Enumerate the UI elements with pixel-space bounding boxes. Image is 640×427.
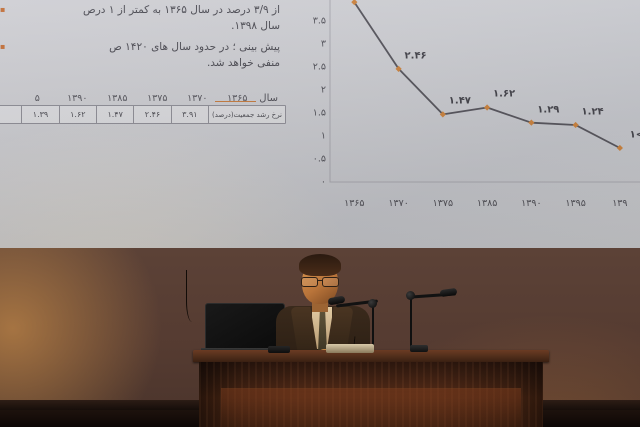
slide-bullet-line: از ۳/۹ درصد در سال ۱۳۶۵ به کمتر از ۱ درص bbox=[9, 2, 280, 18]
podium-front bbox=[199, 362, 543, 427]
chart-x-tick-label: ۱۳۶۵ bbox=[344, 198, 364, 209]
table-header-row: سال۱۳۶۵۱۳۷۰۱۳۷۵۱۳۸۵۱۳۹۰۵ bbox=[0, 88, 286, 104]
slide-bullet: ▪ پیش بینی ؛ در حدود سال های ۱۴۲۰ ص منفی… bbox=[0, 39, 280, 72]
table-cell: ۳.۹۱ bbox=[171, 106, 208, 123]
slide-bullet-line: سال ۱۳۹۸. bbox=[9, 18, 280, 34]
chart-point-label: ۱.۶۲ bbox=[493, 89, 515, 100]
chart-point-label: ۱.۴۷ bbox=[449, 96, 471, 107]
population-growth-chart: ۰۰.۵۱۱.۵۲۲.۵۳۳.۵۱۳۶۵۱۳۷۰۱۳۷۵۱۳۸۵۱۳۹۰۱۳۹۵… bbox=[292, 0, 640, 234]
chart-y-tick-label: ۳ bbox=[296, 39, 326, 50]
chart-series-line bbox=[354, 2, 620, 148]
chart-x-tick-label: ۱۳۹۵ bbox=[565, 198, 585, 209]
table-year-header: ۱۳۶۵ bbox=[217, 93, 257, 104]
chart-x-tick-label: ۱۳۷۰ bbox=[388, 198, 408, 209]
chart-point-label: ۲.۴۶ bbox=[405, 50, 427, 61]
presenter-hair bbox=[299, 254, 341, 276]
chart-point-label: ۱.۲۹ bbox=[537, 104, 559, 115]
table-year-header: ۱۳۷۵ bbox=[137, 93, 177, 104]
chart-axes bbox=[330, 0, 640, 182]
auditorium-room bbox=[0, 248, 640, 427]
chart-y-tick-label: ۲.۵ bbox=[296, 62, 326, 73]
chart-point-label: ۱< bbox=[630, 129, 640, 140]
bullet-marker-icon: ▪ bbox=[0, 2, 6, 17]
chart-x-tick-label: ۱۳۸۵ bbox=[477, 198, 497, 209]
population-growth-table: سال۱۳۶۵۱۳۷۰۱۳۷۵۱۳۸۵۱۳۹۰۵ نرخ رشد جمعیت(د… bbox=[0, 88, 286, 124]
chart-data-point bbox=[484, 104, 490, 110]
table-year-header: ۱۳۷۰ bbox=[177, 93, 217, 104]
chart-point-label: ۱.۲۴ bbox=[582, 106, 604, 117]
table-row-label: نرخ رشد جمعیت(درصد) bbox=[208, 106, 285, 123]
bullet-marker-icon: ▪ bbox=[0, 39, 6, 54]
cable bbox=[186, 270, 201, 322]
chart-y-tick-label: ۰.۵ bbox=[296, 154, 326, 165]
chart-y-tick-label: ۳.۵ bbox=[296, 16, 326, 27]
slide-bullet-body: پیش بینی ؛ در حدود سال های ۱۴۲۰ ص منفی خ… bbox=[9, 39, 280, 72]
table-cell: ۱.۳۹ bbox=[21, 106, 58, 123]
chart-y-tick-label: ۱ bbox=[296, 131, 326, 142]
podium bbox=[193, 350, 549, 427]
table-year-header: ۱۳۹۰ bbox=[57, 93, 97, 104]
podium-panel bbox=[221, 388, 521, 427]
slide-text-block: ▪ از ۳/۹ درصد در سال ۱۳۶۵ به کمتر از ۱ د… bbox=[0, 2, 286, 75]
slide-bullet-line: پیش بینی ؛ در حدود سال های ۱۴۲۰ ص bbox=[9, 39, 280, 55]
chart-x-tick-label: ۱۳۷۵ bbox=[433, 198, 453, 209]
table-cell bbox=[0, 106, 21, 123]
remote-control bbox=[410, 345, 428, 352]
chart-data-point bbox=[617, 145, 623, 151]
papers bbox=[326, 344, 374, 353]
chart-x-tick-label: ۱۳۹۰ bbox=[521, 198, 541, 209]
microphone-right bbox=[388, 282, 468, 358]
small-device bbox=[268, 346, 290, 353]
table-year-header: ۱۳۸۵ bbox=[97, 93, 137, 104]
slide-bullet: ▪ از ۳/۹ درصد در سال ۱۳۶۵ به کمتر از ۱ د… bbox=[0, 2, 280, 35]
table-cell: ۱.۴۷ bbox=[96, 106, 133, 123]
chart-y-tick-label: ۱.۵ bbox=[296, 108, 326, 119]
table-header-label: سال bbox=[257, 93, 282, 104]
table-cell: ۲.۴۶ bbox=[133, 106, 170, 123]
screenshot-root: ▪ از ۳/۹ درصد در سال ۱۳۶۵ به کمتر از ۱ د… bbox=[0, 0, 640, 427]
chart-y-tick-label: ۰ bbox=[296, 177, 326, 188]
slide-bullet-line: منفی خواهد شد. bbox=[9, 55, 280, 71]
table-year-header: ۵ bbox=[17, 93, 57, 104]
slide-bullet-body: از ۳/۹ درصد در سال ۱۳۶۵ به کمتر از ۱ درص… bbox=[9, 2, 280, 35]
chart-y-tick-label: ۲ bbox=[296, 85, 326, 96]
table-data-row: نرخ رشد جمعیت(درصد)۳.۹۱۲.۴۶۱.۴۷۱.۶۲۱.۳۹ bbox=[0, 105, 286, 124]
eyeglasses-icon bbox=[300, 277, 340, 285]
chart-data-point bbox=[528, 120, 534, 126]
chart-x-tick-label: ۱۳۹ bbox=[612, 198, 627, 209]
projection-screen: ▪ از ۳/۹ درصد در سال ۱۳۶۵ به کمتر از ۱ د… bbox=[0, 0, 640, 249]
table-cell: ۱.۶۲ bbox=[59, 106, 96, 123]
